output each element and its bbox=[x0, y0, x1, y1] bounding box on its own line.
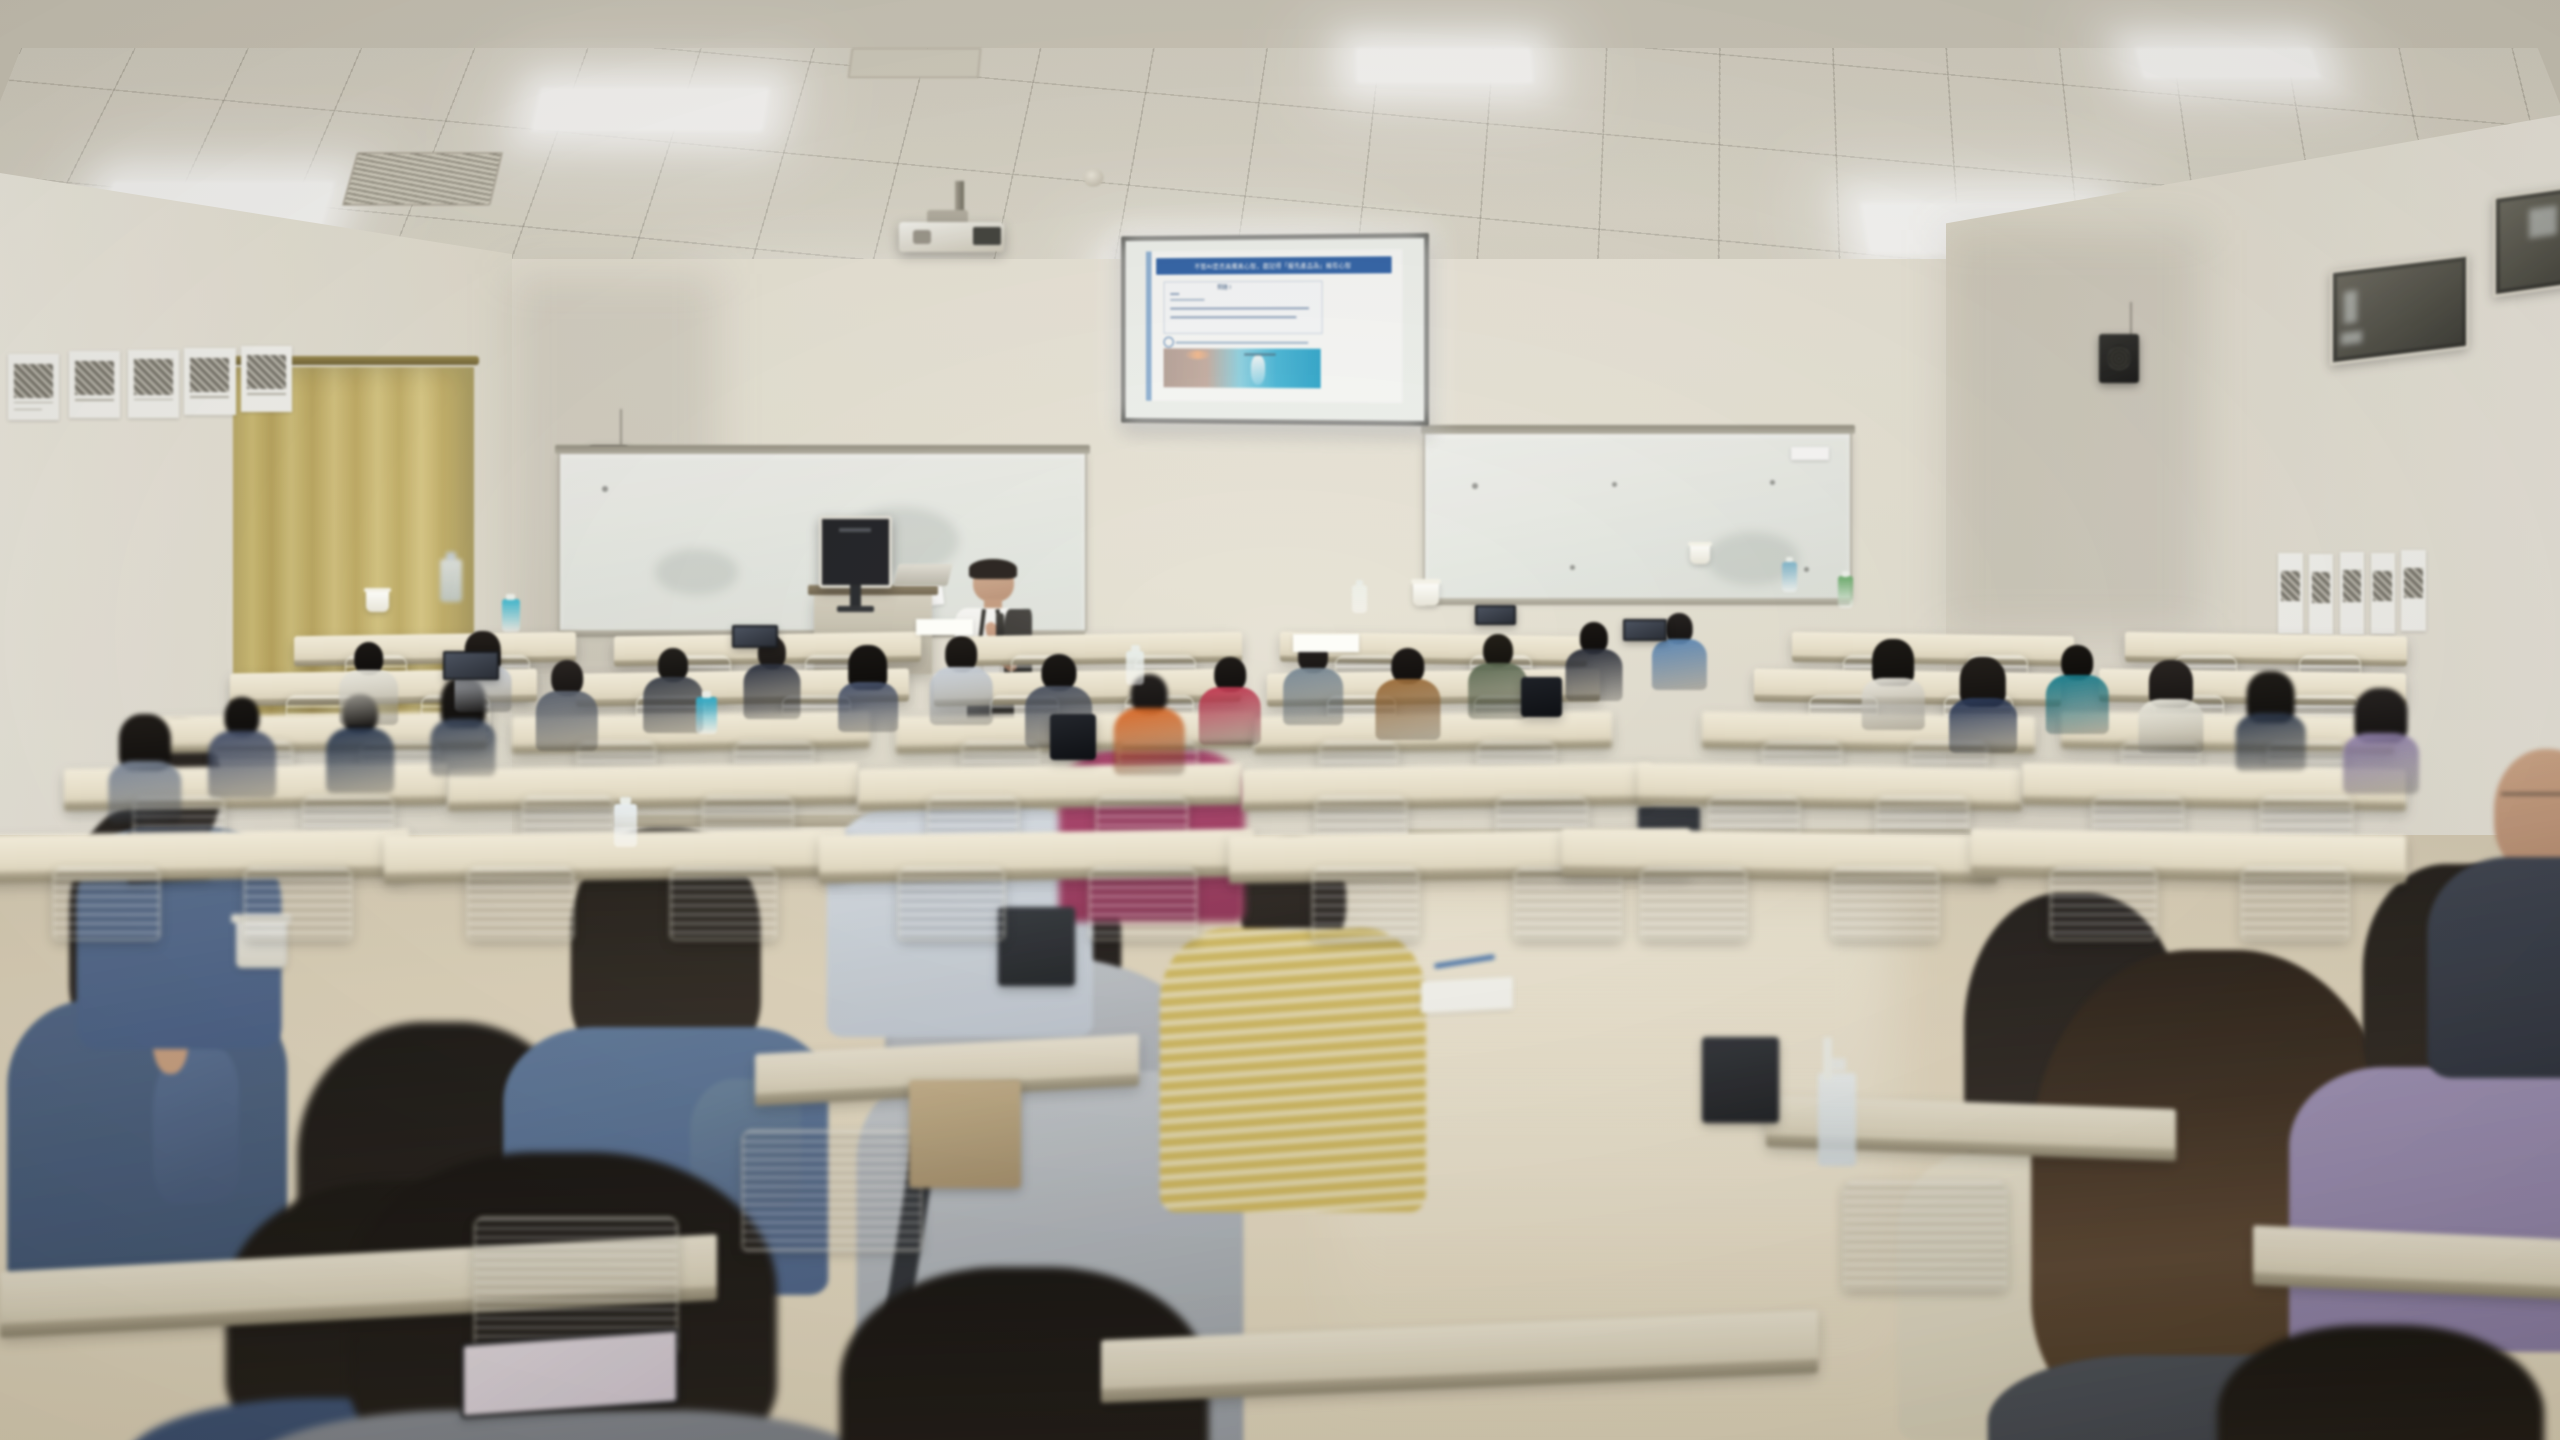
water-bottle bbox=[1818, 1073, 1856, 1167]
projection-screen: 不管AI是否具備真心智，都記得「擬先產品為」擁有心智 問題 I bbox=[1121, 233, 1428, 426]
hvac-vent bbox=[342, 152, 504, 206]
torso bbox=[2289, 1067, 2560, 1353]
torso bbox=[1375, 679, 1440, 739]
desk bbox=[1792, 631, 2074, 666]
wall-speaker-right bbox=[2099, 334, 2139, 383]
slide-text-line bbox=[1170, 300, 1204, 302]
whiteboard-magnet bbox=[1570, 565, 1575, 570]
torso bbox=[838, 682, 898, 732]
poster-text-line bbox=[14, 402, 53, 404]
wall-poster bbox=[2309, 554, 2333, 635]
cup-lid bbox=[1688, 542, 1712, 546]
slide-text-line bbox=[1170, 317, 1296, 319]
poster-image bbox=[2312, 572, 2330, 603]
torso bbox=[242, 1410, 884, 1440]
audience-member bbox=[538, 660, 597, 746]
window bbox=[2493, 178, 2560, 298]
desk bbox=[448, 763, 858, 811]
whiteboard-magnet bbox=[1804, 567, 1809, 572]
bottle-cap bbox=[620, 797, 631, 805]
monitor-base bbox=[837, 606, 874, 612]
chair-back bbox=[742, 1130, 921, 1251]
chair[interactable] bbox=[53, 867, 161, 941]
audience-member bbox=[2176, 1325, 2560, 1440]
audience-member bbox=[1864, 639, 1923, 723]
slide-text-line bbox=[1170, 294, 1179, 296]
projector bbox=[899, 222, 1004, 252]
slide-content-box: 問題 I bbox=[1163, 281, 1323, 335]
ceiling-light-panel bbox=[531, 87, 770, 131]
backpack bbox=[998, 907, 1075, 986]
desk bbox=[1242, 763, 1652, 811]
water-bottle bbox=[1126, 651, 1144, 686]
torso bbox=[1565, 649, 1622, 701]
chair-back bbox=[1089, 867, 1197, 941]
torso bbox=[2138, 699, 2203, 753]
chair-back bbox=[1831, 867, 1939, 941]
chair[interactable] bbox=[742, 1130, 921, 1251]
chair[interactable] bbox=[467, 867, 575, 941]
torso bbox=[2343, 733, 2419, 794]
wall-poster bbox=[184, 348, 235, 414]
torso bbox=[1283, 668, 1343, 724]
bag bbox=[1702, 1037, 1779, 1123]
slide-bullet-icon bbox=[1163, 337, 1173, 348]
audience-member bbox=[1201, 657, 1260, 741]
ceiling-light-panel bbox=[2136, 48, 2322, 79]
torso bbox=[326, 728, 394, 794]
water-bottle bbox=[1352, 585, 1367, 614]
torso bbox=[643, 677, 703, 733]
wall-poster bbox=[8, 354, 59, 420]
audience-member bbox=[1567, 622, 1621, 697]
cup-lid bbox=[1411, 579, 1441, 583]
poster-image bbox=[2404, 568, 2422, 599]
whiteboard-magnet bbox=[1472, 483, 1478, 489]
slide-text-line bbox=[1170, 307, 1309, 309]
torso bbox=[1862, 678, 1924, 730]
laptop[interactable] bbox=[1623, 619, 1667, 641]
whiteboard-rail bbox=[1421, 425, 1854, 434]
podium-laptop[interactable] bbox=[893, 564, 952, 586]
tablet[interactable] bbox=[461, 1329, 679, 1419]
poster-image bbox=[14, 364, 53, 398]
bottle-cap bbox=[1131, 645, 1140, 651]
chair[interactable] bbox=[2241, 867, 2349, 941]
torso bbox=[2427, 857, 2560, 1079]
cup-lid bbox=[364, 588, 391, 592]
chair[interactable] bbox=[244, 867, 352, 941]
chair-back bbox=[244, 867, 352, 941]
torso bbox=[1949, 698, 2017, 753]
tote-bag bbox=[909, 1080, 1022, 1188]
bottle-cap bbox=[1356, 580, 1363, 585]
podium-monitor[interactable] bbox=[819, 516, 892, 588]
whiteboard-paper bbox=[1791, 447, 1829, 460]
classroom-photo: 不管AI是否具備真心智，都記得「擬先產品為」擁有心智 問題 I bbox=[0, 0, 2560, 1440]
laptop[interactable] bbox=[1475, 605, 1516, 625]
whiteboard-magnet bbox=[1612, 482, 1617, 487]
glasses-icon bbox=[2501, 793, 2560, 814]
hair bbox=[2217, 1325, 2545, 1440]
window-reflection bbox=[2341, 330, 2362, 345]
window-reflection bbox=[2343, 290, 2356, 324]
poster-text-line bbox=[247, 393, 286, 395]
chair[interactable] bbox=[1312, 867, 1420, 941]
torso bbox=[339, 670, 399, 724]
bottle-cap bbox=[702, 691, 712, 698]
handout bbox=[1421, 977, 1513, 1014]
laptop[interactable] bbox=[443, 651, 499, 680]
monitor-logo bbox=[839, 528, 871, 533]
chair-back bbox=[670, 867, 778, 941]
torso bbox=[1199, 687, 1261, 745]
chair[interactable] bbox=[1640, 867, 1748, 941]
audience-member bbox=[210, 697, 274, 792]
water-bottle bbox=[696, 697, 716, 734]
bottle-cap bbox=[1786, 557, 1793, 562]
poster-text-line bbox=[14, 409, 43, 411]
slide-accent-bar bbox=[1146, 252, 1152, 401]
chair[interactable] bbox=[898, 867, 1006, 941]
poster-image bbox=[75, 361, 114, 395]
audience-member bbox=[745, 636, 799, 714]
chair-back bbox=[1312, 867, 1420, 941]
wall-poster bbox=[241, 346, 292, 412]
wall-poster bbox=[2371, 553, 2395, 634]
wall-poster bbox=[2401, 550, 2425, 631]
slide-subtitle: 問題 I bbox=[1217, 283, 1231, 291]
handout bbox=[1293, 634, 1360, 653]
bottle-cap bbox=[506, 594, 515, 600]
audience-member bbox=[840, 645, 896, 726]
laptop-screen bbox=[1477, 607, 1514, 623]
chair-back bbox=[1514, 867, 1622, 941]
slide-title: 不管AI是否具備真心智，都記得「擬先產品為」擁有心智 bbox=[1156, 256, 1392, 274]
projector-vent bbox=[973, 227, 1000, 245]
torso bbox=[1652, 639, 1706, 689]
whiteboard-smudge bbox=[655, 549, 739, 595]
ceiling-light-panel bbox=[1355, 48, 1534, 83]
poster-text-line bbox=[134, 399, 173, 401]
torso bbox=[108, 761, 181, 823]
tablet-screen bbox=[464, 1332, 676, 1416]
audience-member bbox=[2345, 688, 2417, 786]
desk bbox=[960, 631, 1242, 666]
chair-back bbox=[467, 867, 575, 941]
window bbox=[2330, 254, 2469, 366]
audience-member bbox=[2432, 749, 2560, 1066]
chair-back bbox=[1843, 1181, 2007, 1290]
bottle-straw bbox=[1823, 1037, 1832, 1080]
chair-back bbox=[2050, 867, 2158, 941]
audience-member bbox=[2237, 671, 2304, 763]
audience-member bbox=[1116, 674, 1183, 769]
bag bbox=[1050, 714, 1096, 760]
handout bbox=[916, 619, 972, 635]
torso bbox=[536, 691, 598, 751]
poster-text-line bbox=[75, 399, 114, 401]
poster-text-line bbox=[190, 396, 229, 398]
torso bbox=[208, 731, 276, 798]
laptop-screen bbox=[734, 627, 776, 646]
cup bbox=[366, 590, 389, 612]
wall-poster bbox=[2278, 553, 2302, 634]
chair[interactable] bbox=[1089, 867, 1197, 941]
window-reflection bbox=[2530, 206, 2558, 238]
slide: 不管AI是否具備真心智，都記得「擬先產品為」擁有心智 問題 I bbox=[1146, 249, 1402, 402]
striped-sweater bbox=[1160, 928, 1426, 1213]
wall-shadow bbox=[1946, 230, 2202, 633]
poster-image bbox=[2343, 570, 2361, 602]
chair-back bbox=[2241, 867, 2349, 941]
chair-back bbox=[898, 867, 1006, 941]
projector-lens-icon bbox=[913, 230, 931, 244]
poster-image bbox=[2373, 571, 2391, 602]
whiteboard-rail bbox=[555, 445, 1090, 454]
poster-image bbox=[190, 358, 229, 392]
whiteboard-magnet bbox=[1770, 480, 1775, 485]
chair[interactable] bbox=[1514, 867, 1622, 941]
torso bbox=[2235, 713, 2306, 770]
torso bbox=[2046, 675, 2108, 733]
chair[interactable] bbox=[670, 867, 778, 941]
desk bbox=[294, 631, 576, 666]
laptop-screen bbox=[445, 653, 497, 678]
audience-member bbox=[1377, 648, 1438, 734]
chair[interactable] bbox=[1843, 1181, 2007, 1290]
cup bbox=[1690, 544, 1710, 564]
audience-member bbox=[340, 642, 396, 720]
water-bottle bbox=[502, 599, 520, 632]
poster-image bbox=[2281, 571, 2299, 602]
wall-poster bbox=[128, 350, 179, 418]
presenter-hair bbox=[969, 559, 1017, 579]
audience-member bbox=[2048, 645, 2107, 729]
poster-image bbox=[247, 355, 286, 389]
torso bbox=[1114, 708, 1185, 775]
torso bbox=[930, 667, 992, 725]
water-bottle bbox=[1782, 562, 1797, 592]
slide-image-figure bbox=[1251, 356, 1265, 385]
water-bottle bbox=[1838, 576, 1853, 608]
bag bbox=[1521, 677, 1562, 717]
laptop[interactable] bbox=[732, 625, 778, 648]
torso bbox=[431, 719, 496, 776]
poster-image bbox=[134, 359, 173, 394]
cup bbox=[1413, 582, 1439, 606]
slide-image bbox=[1163, 349, 1321, 389]
torso bbox=[1468, 663, 1528, 719]
bottle-cap bbox=[446, 552, 456, 560]
chair-back bbox=[1640, 867, 1748, 941]
audience-member bbox=[1469, 634, 1525, 715]
audience-member bbox=[932, 636, 991, 720]
whiteboard-magnet bbox=[602, 486, 608, 492]
audience-member bbox=[2140, 660, 2201, 746]
chair-back bbox=[53, 867, 161, 941]
torso bbox=[743, 664, 800, 718]
slide-image-glow bbox=[1185, 351, 1210, 360]
monitor-stand bbox=[850, 585, 861, 608]
chair[interactable] bbox=[1831, 867, 1939, 941]
hvac-vent bbox=[848, 48, 981, 78]
water-bottle bbox=[614, 804, 637, 847]
audience-member bbox=[1951, 657, 2015, 746]
speaker-wire bbox=[620, 409, 622, 446]
wall-poster bbox=[69, 351, 120, 417]
laptop-screen bbox=[1625, 621, 1665, 639]
chair[interactable] bbox=[2050, 867, 2158, 941]
audience-member bbox=[645, 648, 701, 729]
water-bottle bbox=[440, 559, 462, 602]
bottle-cap bbox=[1842, 571, 1849, 577]
slide-bullet-line bbox=[1176, 342, 1308, 344]
audience-member bbox=[110, 714, 179, 815]
screen-surface: 不管AI是否具備真心智，都記得「擬先產品為」擁有心智 問題 I bbox=[1126, 238, 1424, 421]
wall-poster bbox=[2340, 552, 2364, 636]
